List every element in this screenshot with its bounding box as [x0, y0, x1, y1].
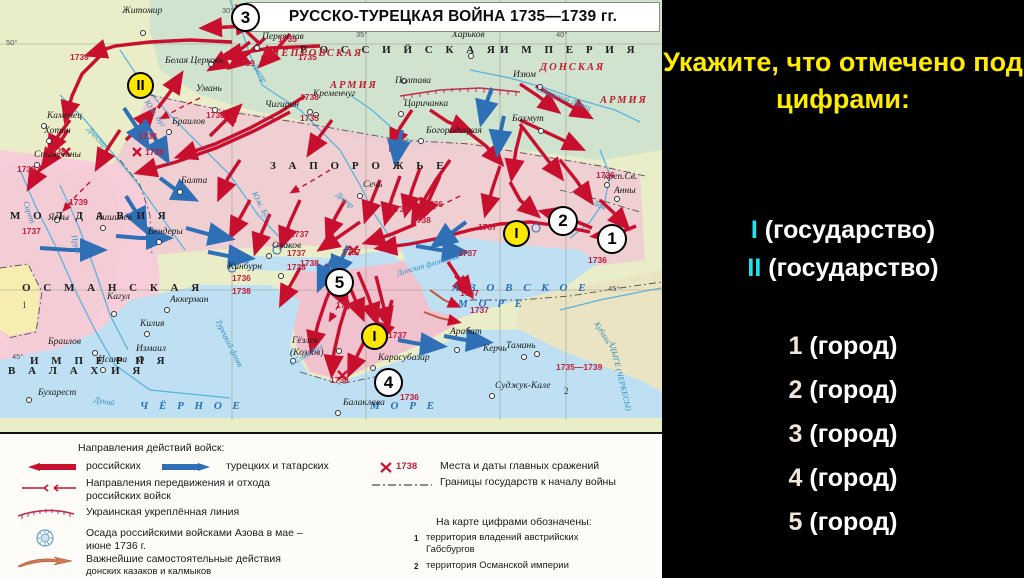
- battle-year-label: 1735: [278, 34, 297, 44]
- map-legend: Направления действий войск: российских т…: [0, 432, 662, 578]
- battle-year-label: 1739: [47, 146, 66, 156]
- city-answer-text: (город): [802, 376, 897, 404]
- legend-fortline-label: Украинская укреплённая линия: [86, 506, 239, 519]
- coordinate-label: 50°: [6, 38, 17, 47]
- city-dot: [46, 138, 52, 144]
- city-dot: [614, 196, 620, 202]
- legend-cossack-line1: Важнейшие самостоятельные действия: [86, 553, 281, 566]
- city-dot: [278, 273, 284, 279]
- city-answer-row: 5 (город): [662, 508, 1024, 537]
- map-marker-II[interactable]: II: [127, 72, 154, 99]
- country-label: З А П О Р О Ж Ь Е: [270, 160, 449, 172]
- city-label: Белая Церковь: [165, 56, 224, 66]
- state-answer-row: II (государство): [662, 254, 1024, 283]
- state-answer-text: (государство): [761, 254, 938, 282]
- legend-cossack-line2: донских казаков и калмыков: [86, 566, 211, 577]
- city-label: Браилов: [48, 337, 81, 347]
- legend-num1-line2: Габсбургов: [426, 544, 475, 555]
- city-label: Килия: [140, 319, 164, 329]
- legend-num-2: 2: [414, 562, 418, 571]
- city-label: Карасубазар: [378, 353, 430, 363]
- map-marker-4[interactable]: 4: [374, 368, 403, 397]
- city-label: Браилов: [172, 117, 205, 127]
- city-dot: [521, 354, 527, 360]
- map-marker-5[interactable]: 5: [325, 268, 354, 297]
- city-label: Кишинёв: [96, 213, 132, 223]
- battle-year-label: 1738: [412, 215, 431, 225]
- map-marker-3[interactable]: 3: [231, 3, 260, 32]
- legend-numbers-heading: На карте цифрами обозначены:: [436, 516, 592, 528]
- battle-year-label: 1738: [232, 286, 251, 296]
- country-label: И М П Е Р И Я: [500, 44, 640, 56]
- battle-cross-symbol: [378, 460, 394, 474]
- city-number: 4: [789, 464, 803, 492]
- city-label: Балта: [181, 176, 207, 186]
- city-dot: [534, 351, 540, 357]
- city-label: Керчь: [483, 344, 507, 354]
- state-answer-text: (государство): [758, 216, 935, 244]
- city-number: 3: [789, 420, 803, 448]
- army-label: АРМИЯ: [600, 95, 648, 106]
- city-dot: [177, 189, 183, 195]
- city-answer-row: 2 (город): [662, 376, 1024, 405]
- battle-year-label: 1736: [232, 273, 251, 283]
- city-label: Бендеры: [148, 227, 183, 237]
- city-label: Богородицкая: [426, 126, 482, 136]
- state-roman-numeral: II: [747, 254, 761, 282]
- city-label: Анны: [614, 186, 636, 196]
- battle-year-label: 1735—1739: [556, 362, 602, 372]
- territory-number: 2: [564, 386, 569, 396]
- city-label: Кременчуг: [313, 89, 356, 99]
- city-answer-row: 3 (город): [662, 420, 1024, 449]
- city-dot: [454, 347, 460, 353]
- map-marker-2[interactable]: 2: [548, 206, 578, 236]
- city-label: Балаклава: [343, 398, 385, 408]
- city-label: Чигирин: [265, 100, 299, 110]
- legend-num-1: 1: [414, 534, 418, 543]
- city-label: Суджук-Кале: [495, 381, 551, 391]
- battle-year-label: 1739: [17, 164, 36, 174]
- map-marker-1[interactable]: 1: [597, 224, 627, 254]
- city-dot: [144, 331, 150, 337]
- map-marker-I[interactable]: I: [503, 220, 530, 247]
- legend-battles-label: Места и даты главных сражений: [440, 460, 599, 473]
- battle-year-label: 1735: [298, 52, 317, 62]
- battle-year-label: 1737: [287, 248, 306, 258]
- slide-root: РУССКО-ТУРЕЦКАЯ ВОЙНА 1735—1739 гг. Р О …: [0, 0, 1024, 576]
- battle-year-label: 1737: [478, 222, 497, 232]
- map-title: РУССКО-ТУРЕЦКАЯ ВОЙНА 1735—1739 гг.: [246, 2, 660, 32]
- city-label: Полтава: [395, 76, 431, 86]
- city-dot: [26, 397, 32, 403]
- battle-year-label: 1736: [588, 255, 607, 265]
- battle-year-label: 1736: [424, 199, 443, 209]
- city-label: Арабат: [450, 327, 482, 337]
- city-dot: [398, 111, 404, 117]
- battle-year-label: 1738: [206, 110, 225, 120]
- cossack-arrow-symbol: [14, 554, 78, 570]
- city-answer-text: (город): [802, 508, 897, 536]
- battle-year-label: 1739: [69, 197, 88, 207]
- territory-number: 1: [22, 300, 27, 310]
- city-dot: [166, 129, 172, 135]
- legend-num2-text: территория Османской империи: [426, 560, 569, 571]
- city-label: Кагул: [107, 292, 130, 302]
- battle-year-label: 1735: [300, 113, 319, 123]
- battle-year-label: 1737: [342, 247, 361, 257]
- city-label: Аккерман: [170, 295, 208, 305]
- city-label: Хотин: [44, 126, 71, 136]
- question-panel: Укажите, что отмечено под цифрами: I (го…: [662, 0, 1024, 576]
- map-marker-I[interactable]: I: [361, 323, 388, 350]
- city-label: Яссы: [48, 213, 69, 223]
- dashed-red-arrow-symbol: [14, 482, 78, 494]
- legend-num1-line1: территория владений австрийских: [426, 532, 578, 543]
- city-dot: [604, 182, 610, 188]
- battle-year-label: 1736: [596, 170, 615, 180]
- legend-russian-label: российских: [86, 460, 141, 473]
- legend-movement-line1: Направления передвижения и отхода: [86, 477, 270, 490]
- battle-year-label: 1737: [460, 288, 479, 298]
- siege-symbol: [34, 528, 56, 548]
- army-label: ДОНСКАЯ: [540, 62, 605, 73]
- city-label: Царичанка: [404, 99, 448, 109]
- legend-turkish-label: турецких и татарских: [226, 460, 329, 473]
- city-dot: [140, 30, 146, 36]
- battle-year-label: 1737: [22, 226, 41, 236]
- city-label: Исакча: [98, 355, 127, 365]
- border-dash-symbol: [370, 480, 434, 490]
- sea-label: М О Р Е: [458, 298, 526, 310]
- city-dot: [164, 307, 170, 313]
- battle-year-label: 1736: [390, 204, 409, 214]
- city-dot: [156, 239, 162, 245]
- city-answer-text: (город): [802, 420, 897, 448]
- city-number: 2: [789, 376, 803, 404]
- battle-year-label: 1737: [470, 305, 489, 315]
- battle-year-label: 1736: [330, 375, 349, 385]
- city-label: Житомир: [122, 6, 162, 16]
- city-dot: [538, 128, 544, 134]
- city-dot: [336, 348, 342, 354]
- sea-label: Ч Ё Р Н О Е: [140, 400, 244, 412]
- city-label: Умань: [196, 84, 222, 94]
- city-answer-row: 4 (город): [662, 464, 1024, 493]
- city-dot: [111, 311, 117, 317]
- country-label: В А Л А Х И Я: [8, 365, 145, 377]
- battle-year-label: 1736: [400, 392, 419, 402]
- coordinate-label: 45°: [12, 352, 23, 361]
- coordinate-label: 45°: [608, 284, 619, 293]
- fortified-line-symbol: [14, 506, 78, 520]
- battle-year-label: 1737: [290, 229, 309, 239]
- city-dot: [370, 365, 376, 371]
- city-label: Бахмут: [512, 114, 544, 124]
- city-dot: [266, 253, 272, 259]
- city-label: Каменец: [47, 111, 82, 121]
- city-label: Бухарест: [38, 388, 76, 398]
- state-answer-row: I (государство): [662, 216, 1024, 245]
- battle-year-label: 1736: [336, 300, 355, 310]
- city-dot: [335, 410, 341, 416]
- city-label: Изюм: [513, 70, 536, 80]
- battle-year-label: 1738: [138, 131, 157, 141]
- question-title: Укажите, что отмечено под цифрами:: [662, 44, 1024, 118]
- battle-year-label: 1738: [145, 147, 164, 157]
- battle-year-label: 1737: [458, 248, 477, 258]
- legend-movement-line2: российских войск: [86, 490, 171, 503]
- battle-year-label: 1738: [300, 258, 319, 268]
- battle-year-label: 1739: [236, 58, 255, 68]
- state-roman-numeral: I: [751, 216, 758, 244]
- battle-year-label: 1737: [388, 330, 407, 340]
- legend-borders-label: Границы государств к началу войны: [440, 476, 616, 489]
- city-label: Тамань: [506, 341, 536, 351]
- legend-battle-year: 1738: [396, 461, 417, 472]
- legend-troops-heading: Направления действий войск:: [78, 442, 224, 454]
- red-arrow-symbol: [20, 460, 78, 474]
- battle-year-label: 1738: [300, 92, 319, 102]
- city-label: Сечь: [363, 180, 382, 190]
- city-number: 1: [789, 332, 803, 360]
- legend-siege-line1: Осада российскими войсками Азова в мае –: [86, 527, 303, 540]
- city-answer-text: (город): [802, 332, 897, 360]
- city-label: Кинбурн: [228, 262, 262, 272]
- city-dot: [418, 138, 424, 144]
- city-dot: [100, 225, 106, 231]
- city-answer-text: (город): [802, 464, 897, 492]
- battle-year-label: 1739: [70, 52, 89, 62]
- city-dot: [254, 45, 260, 51]
- city-number: 5: [789, 508, 803, 536]
- city-answer-row: 1 (город): [662, 332, 1024, 361]
- city-label: Измаил: [136, 344, 166, 354]
- city-dot: [357, 193, 363, 199]
- city-dot: [489, 393, 495, 399]
- blue-arrow-symbol: [160, 460, 218, 474]
- legend-siege-line2: июне 1736 г.: [86, 540, 146, 553]
